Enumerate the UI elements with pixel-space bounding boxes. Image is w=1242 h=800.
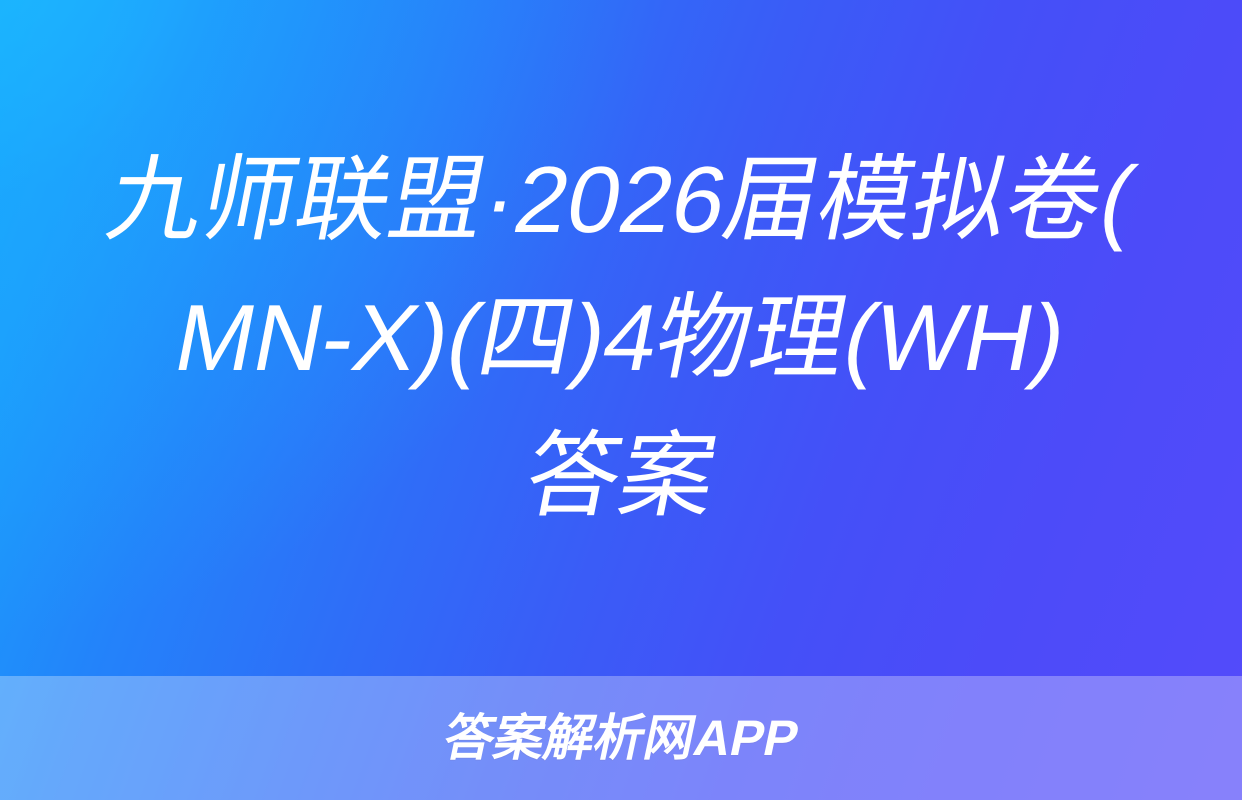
title-block: 九师联盟·2026届模拟卷( MN-X)(四)4物理(WH) 答案 (0, 0, 1242, 676)
title-line-1: 九师联盟·2026届模拟卷( (96, 131, 1147, 269)
title-card: 九师联盟·2026届模拟卷( MN-X)(四)4物理(WH) 答案 答案解析网A… (0, 0, 1242, 800)
title-line-3: 答案 (514, 407, 729, 545)
watermark-label: 答案解析网APP (439, 710, 804, 766)
watermark-band: 答案解析网APP (0, 676, 1242, 800)
title-line-2: MN-X)(四)4物理(WH) (164, 269, 1078, 407)
